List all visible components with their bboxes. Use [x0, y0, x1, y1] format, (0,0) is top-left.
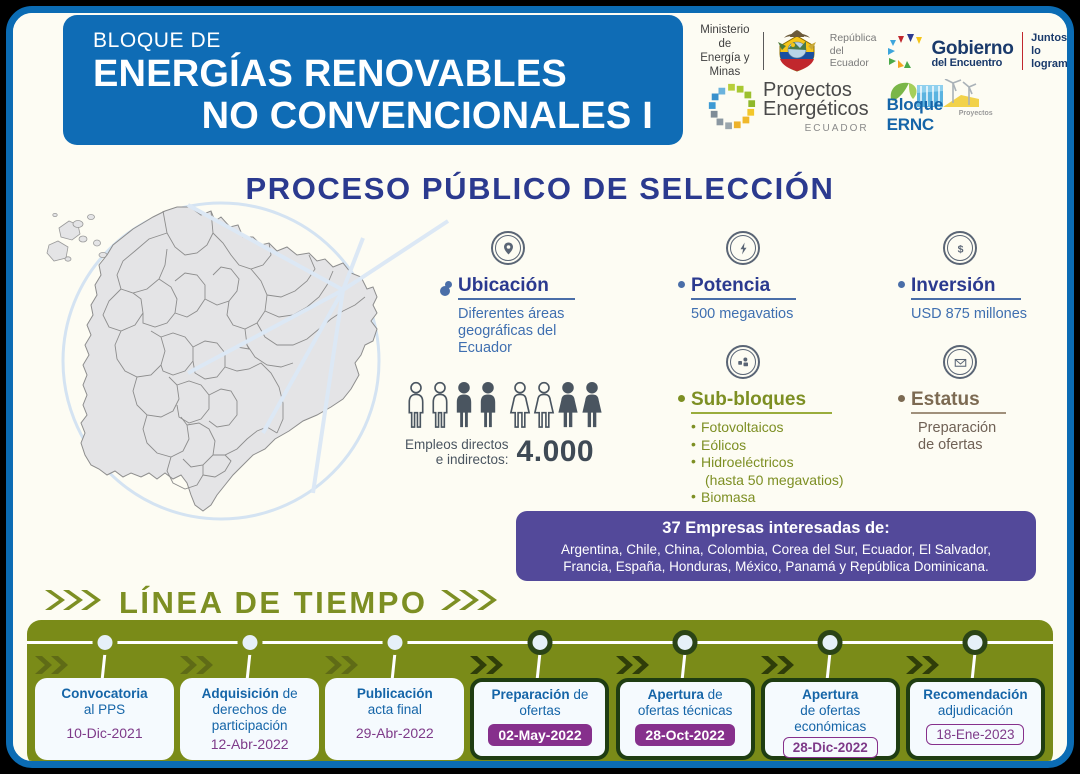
timeline-card-title-rest: de [279, 686, 298, 701]
timeline-card-title-bold: Adquisición [202, 686, 279, 701]
proyectos-line-3: ECUADOR [763, 119, 869, 138]
timeline-card[interactable]: Apertura de ofertas económicas 28-Dic-20… [761, 678, 900, 760]
republic-line-1: República [830, 32, 877, 45]
ministry-row: Ministerio de Energía y Minas [689, 23, 1067, 79]
timeline-item-1[interactable]: Convocatoria al PPS 10-Dic-2021 [35, 620, 174, 761]
ubicacion-heading-row: Ubicación [445, 275, 635, 300]
ministry-line-2: Energía y Minas [697, 51, 753, 79]
blocks-icon [726, 345, 760, 379]
pixel-ring-icon [705, 81, 757, 138]
inversion-detail: USD 875 millones [898, 306, 1067, 323]
sub-bloques-heading-row: Sub-bloques [678, 389, 893, 414]
divider [763, 32, 764, 70]
ubicacion-line-3: Ecuador [458, 340, 635, 357]
svg-text:$: $ [957, 243, 963, 255]
timeline-card-line-2: ofertas [474, 703, 605, 719]
person-female-outline-icon [509, 381, 531, 429]
list-item: Biomasa [691, 489, 893, 507]
ubicacion-detail: Diferentes áreas geográficas del Ecuador [445, 306, 635, 357]
republic-label: República del Ecuador [830, 32, 877, 70]
employment-label: Empleos directos e indirectos: [405, 437, 509, 467]
timeline-card-date: 02-May-2022 [488, 724, 591, 746]
timeline-card[interactable]: Apertura de ofertas técnicas 28-Oct-2022 [616, 678, 755, 760]
companies-line-2: Francia, España, Honduras, México, Panam… [516, 558, 1036, 575]
timeline-card-title-bold: Apertura [648, 687, 704, 702]
banner-line-2: ENERGÍAS RENOVABLES [93, 53, 661, 95]
ministry-label: Ministerio de Energía y Minas [697, 23, 753, 79]
chevron-right-icon [33, 654, 79, 681]
dollar-coin-icon: $ [943, 231, 977, 265]
bullet-dot [898, 281, 905, 288]
employment-caption: Empleos directos e indirectos: 4.000 [405, 435, 645, 469]
inversion-line-1: USD 875 millones [911, 306, 1067, 323]
lightning-bolt-icon [726, 231, 760, 265]
estatus-heading-row: Estatus [898, 389, 1067, 414]
timeline-card-title-bold: Recomendación [923, 687, 1027, 702]
timeline-card[interactable]: Adquisición de derechos de participación… [180, 678, 319, 760]
timeline-card[interactable]: Publicación acta final 29-Abr-2022 [325, 678, 464, 760]
list-item: Eólicos [691, 437, 893, 455]
potencia-line-1: 500 megavatios [691, 306, 868, 323]
timeline-node [673, 630, 698, 655]
person-male-outline-icon [405, 381, 427, 429]
proyectos-energeticos-logo: Proyectos Energéticos ECUADOR [705, 81, 869, 138]
timeline-card-title-rest: de [704, 687, 723, 702]
page-frame: BLOQUE DE ENERGÍAS RENOVABLES NO CONVENC… [6, 6, 1074, 768]
timeline-card-line-2: acta final [325, 702, 464, 718]
timeline-card-title-rest: de [570, 687, 589, 702]
list-item: Fotovoltaicos [691, 419, 893, 437]
gobierno-line-2: del Encuentro [931, 56, 1013, 70]
infographic-root: BLOQUE DE ENERGÍAS RENOVABLES NO CONVENC… [0, 0, 1080, 774]
gobierno-logo: Gobierno del Encuentro Juntos lo logramo… [886, 32, 1067, 71]
divider-red [1022, 32, 1024, 70]
timeline-node [818, 630, 843, 655]
chevron-right-icon [904, 654, 950, 681]
timeline-card-title: Preparación de [474, 687, 605, 703]
timeline-card[interactable]: Preparación de ofertas 02-May-2022 [470, 678, 609, 760]
estatus-detail: Preparación de ofertas [898, 420, 1067, 454]
republic-line-2: del Ecuador [830, 45, 877, 70]
potencia-title: Potencia [691, 275, 796, 300]
timeline-title-row: LÍNEA DE TIEMPO [43, 585, 503, 621]
person-female-filled-icon [581, 381, 603, 429]
timeline-card-title-bold: Apertura [802, 687, 858, 702]
chevron-right-icon [759, 654, 805, 681]
person-female-outline-icon [533, 381, 555, 429]
info-block-ubicacion: Ubicación Diferentes áreas geográficas d… [445, 231, 635, 357]
timeline-card-line-2: al PPS [35, 702, 174, 718]
proyectos-line-2: Energéticos [763, 100, 869, 119]
chevron-right-icon [614, 654, 660, 681]
estatus-line-1: Preparación [918, 420, 1067, 437]
timeline-card-date: 12-Abr-2022 [180, 736, 319, 752]
proyectos-line-1: Proyectos [763, 81, 869, 100]
potencia-detail: 500 megavatios [678, 306, 868, 323]
info-block-estatus: Estatus Preparación de ofertas [898, 345, 1067, 454]
timeline-card-title: Adquisición de [180, 686, 319, 702]
ernc-wordmark: Bloque ERNC [887, 95, 993, 135]
timeline-card-line-2: adjudicación [910, 703, 1041, 719]
person-male-filled-icon [477, 381, 499, 429]
people-pictogram [405, 379, 645, 429]
timeline-item-7[interactable]: Recomendación adjudicación 18-Ene-2023 [906, 620, 1045, 761]
chevrons-left-icon [43, 585, 107, 621]
timeline-card-title-bold: Convocatoria [61, 686, 147, 701]
info-block-sub-bloques: Sub-bloques Fotovoltaicos Eólicos Hidroe… [678, 345, 893, 507]
header-logos: Ministerio de Energía y Minas [689, 23, 1067, 147]
timeline-item-2[interactable]: Adquisición de derechos de participación… [180, 620, 319, 761]
info-block-potencia: Potencia 500 megavatios [678, 231, 868, 323]
page-title: PROCESO PÚBLICO DE SELECCIÓN [13, 171, 1067, 207]
timeline-node [92, 630, 117, 655]
envelope-icon [943, 345, 977, 379]
person-male-outline-icon [429, 381, 451, 429]
list-item-note: (hasta 50 megavatios) [691, 472, 893, 490]
ubicacion-title: Ubicación [458, 275, 575, 300]
chevron-right-icon [323, 654, 369, 681]
proyectos-wordmark: Proyectos Energéticos ECUADOR [763, 81, 869, 138]
timeline-card-line-3: participación [180, 718, 319, 734]
employment-stats: Empleos directos e indirectos: 4.000 [405, 379, 645, 469]
chevrons-right-icon [439, 585, 503, 621]
ubicacion-line-2: geográficas del [458, 323, 635, 340]
chevron-right-icon [468, 654, 514, 681]
estatus-line-2: de ofertas [918, 437, 1067, 454]
companies-line-1: Argentina, Chile, China, Colombia, Corea… [516, 541, 1036, 558]
timeline-card-line-2: ofertas técnicas [620, 703, 751, 719]
timeline-card-title: Apertura de [620, 687, 751, 703]
companies-box: 37 Empresas interesadas de: Argentina, C… [516, 511, 1036, 581]
timeline-item-3[interactable]: Publicación acta final 29-Abr-2022 [325, 620, 464, 761]
estatus-title: Estatus [911, 389, 1006, 414]
ecuador-map [25, 193, 415, 533]
header-banner: BLOQUE DE ENERGÍAS RENOVABLES NO CONVENC… [63, 15, 683, 145]
person-male-filled-icon [453, 381, 475, 429]
info-block-inversion: $ Inversión USD 875 millones [898, 231, 1067, 323]
sub-bloques-title: Sub-bloques [691, 389, 832, 414]
project-logos-row: Proyectos Energéticos ECUADOR [689, 79, 1067, 139]
timeline-card-title: Convocatoria [35, 686, 174, 702]
employment-label-1: Empleos directos [405, 437, 509, 452]
timeline-node [963, 630, 988, 655]
timeline-card-title: Apertura [765, 687, 896, 703]
timeline-card[interactable]: Convocatoria al PPS 10-Dic-2021 [35, 678, 174, 760]
timeline-card-line-2: derechos de [180, 702, 319, 718]
timeline-card-title: Recomendación [910, 687, 1041, 703]
timeline-card-date: 10-Dic-2021 [35, 725, 174, 741]
chevron-right-icon [178, 654, 224, 681]
timeline-card-title: Publicación [325, 686, 464, 702]
gobierno-wordmark: Gobierno del Encuentro [931, 42, 1013, 70]
gobierno-line-1: Gobierno [931, 42, 1013, 56]
bullet-dot [678, 281, 685, 288]
employment-value: 4.000 [517, 435, 595, 469]
bullet-dot [898, 395, 905, 402]
timeline-node [237, 630, 262, 655]
person-female-filled-icon [557, 381, 579, 429]
juntos-line-2: lo logramos [1031, 45, 1067, 71]
inversion-heading-row: Inversión [898, 275, 1067, 300]
timeline-item-5[interactable]: Apertura de ofertas técnicas 28-Oct-2022 [616, 620, 755, 761]
companies-list: Argentina, Chile, China, Colombia, Corea… [516, 541, 1036, 575]
companies-title: 37 Empresas interesadas de: [516, 519, 1036, 538]
timeline-title: LÍNEA DE TIEMPO [119, 585, 427, 621]
timeline-card-line-3: económicas [765, 719, 896, 735]
timeline-node [527, 630, 552, 655]
ubicacion-line-1: Diferentes áreas [458, 306, 635, 323]
timeline-card-title-bold: Publicación [357, 686, 433, 701]
page-inner: BLOQUE DE ENERGÍAS RENOVABLES NO CONVENC… [13, 13, 1067, 761]
timeline-item-4[interactable]: Preparación de ofertas 02-May-2022 [470, 620, 609, 761]
list-item: Hidroeléctricos [691, 454, 893, 472]
timeline-card-title-bold: Preparación [492, 687, 570, 702]
employment-label-2: e indirectos: [405, 452, 509, 467]
bullet-dot [445, 281, 452, 288]
timeline-item-6[interactable]: Apertura de ofertas económicas 28-Dic-20… [761, 620, 900, 761]
timeline-card[interactable]: Recomendación adjudicación 18-Ene-2023 [906, 678, 1045, 760]
timeline-panel: Convocatoria al PPS 10-Dic-2021 [27, 620, 1053, 761]
timeline-card-line-2: de ofertas [765, 703, 896, 719]
banner-line-3: NO CONVENCIONALES I [93, 95, 661, 137]
timeline-card-date: 18-Ene-2023 [926, 724, 1024, 745]
timeline-card-date: 28-Oct-2022 [635, 724, 734, 746]
timeline-items: Convocatoria al PPS 10-Dic-2021 [27, 620, 1053, 761]
location-pin-icon [491, 231, 525, 265]
ministry-line-1: Ministerio de [697, 23, 753, 51]
potencia-heading-row: Potencia [678, 275, 868, 300]
inversion-title: Inversión [911, 275, 1021, 300]
ecuador-coat-of-arms-icon [774, 28, 820, 74]
juntos-line-1: Juntos [1031, 32, 1067, 45]
timeline-card-date: 28-Dic-2022 [783, 737, 878, 758]
sub-bloques-list: Fotovoltaicos Eólicos Hidroeléctricos (h… [678, 419, 893, 507]
gobierno-chevrons-icon [886, 32, 928, 70]
timeline-card-date: 29-Abr-2022 [325, 725, 464, 741]
banner-line-1: BLOQUE DE [93, 29, 661, 53]
juntos-label: Juntos lo logramos [1031, 32, 1067, 71]
bloque-ernc-logo: Proyectos Bloque ERNC [887, 83, 993, 135]
timeline-node [382, 630, 407, 655]
bullet-dot [678, 395, 685, 402]
